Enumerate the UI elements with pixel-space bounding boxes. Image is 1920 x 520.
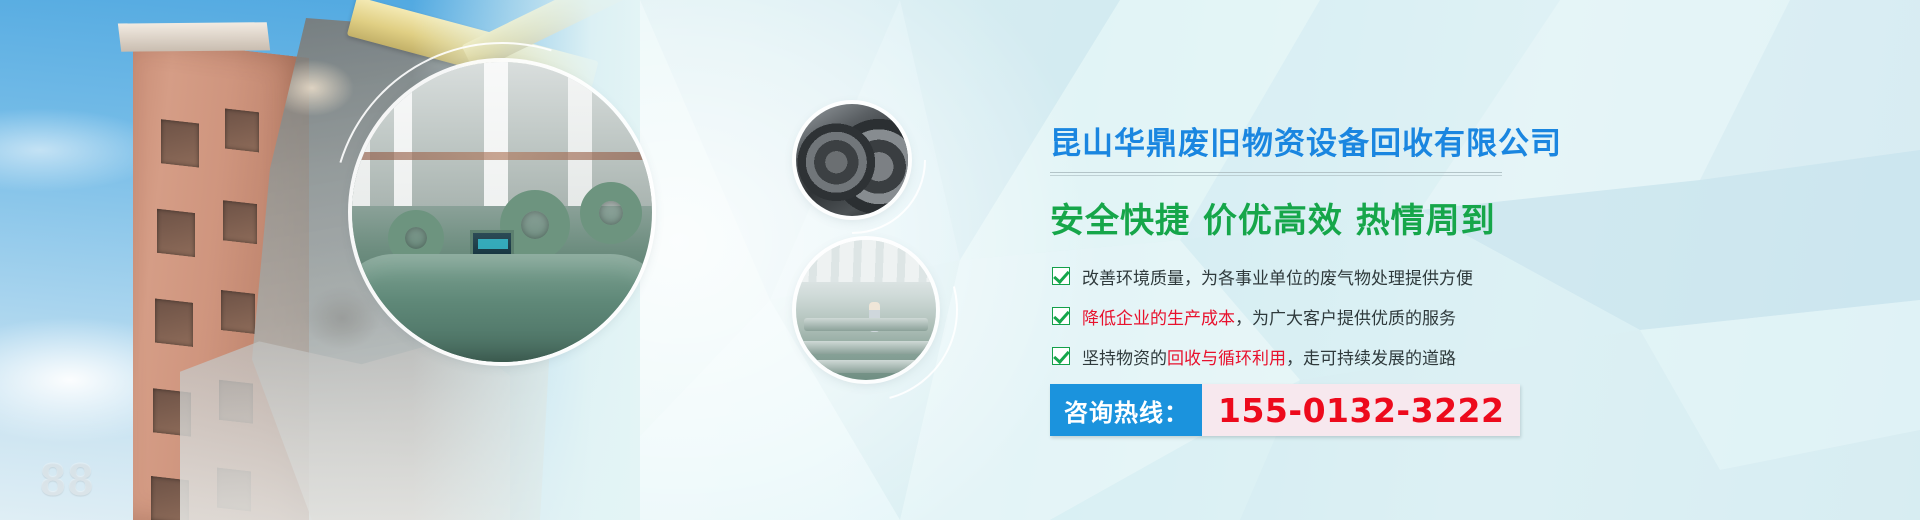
list-item: 降低企业的生产成本 ，为广大客户提供优质的服务 (1052, 296, 1473, 336)
window (223, 200, 257, 244)
steel-coil-rolls-photo (796, 104, 908, 216)
company-name: 昆山华鼎废旧物资设备回收有限公司 (1050, 118, 1562, 163)
hotline-number[interactable]: 155-0132-3222 (1202, 384, 1520, 436)
bullet-head: 坚持物资的 (1082, 344, 1167, 369)
check-icon (1052, 307, 1070, 325)
chiller-tank (352, 254, 652, 362)
work-bench (804, 318, 927, 331)
work-bench (796, 360, 936, 373)
steel-coils (796, 104, 908, 216)
window (157, 209, 195, 257)
hotline-box[interactable]: 咨询热线： 155-0132-3222 (1050, 384, 1520, 436)
hotline-label: 咨询热线： (1050, 384, 1202, 436)
bullet-highlight: 回收与循环利用 (1167, 344, 1286, 369)
check-icon (1052, 347, 1070, 365)
steel-beam (352, 152, 652, 160)
window (225, 108, 259, 152)
industrial-chiller-machinery-photo (352, 62, 652, 362)
bullet-head: 改善环境质量，为各事业单位的废气物处理提供方便 (1082, 264, 1473, 289)
window (221, 290, 255, 334)
promo-banner: 88 昆山华鼎废旧物资设备回收有限公司 安全快捷 价 (0, 0, 1920, 520)
feature-list: 改善环境质量，为各事业单位的废气物处理提供方便 降低企业的生产成本 ，为广大客户… (1052, 256, 1473, 376)
banner-text-panel: 昆山华鼎废旧物资设备回收有限公司 安全快捷 价优高效 热情周到 改善环境质量，为… (1050, 0, 1610, 520)
list-item: 改善环境质量，为各事业单位的废气物处理提供方便 (1052, 256, 1473, 296)
window (155, 299, 193, 347)
chiller-pipe (580, 182, 642, 244)
check-icon (1052, 267, 1070, 285)
bullet-tail: ，走可持续发展的道路 (1286, 344, 1456, 369)
workshop-scene (796, 240, 936, 380)
factory-production-line-photo (796, 240, 936, 380)
work-bench (799, 341, 933, 354)
chiller-scene (352, 62, 652, 362)
list-item: 坚持物资的 回收与循环利用 ，走可持续发展的道路 (1052, 336, 1473, 376)
divider-rule (1050, 172, 1502, 177)
slogan-headline: 安全快捷 价优高效 热情周到 (1050, 193, 1496, 242)
bullet-tail: ，为广大客户提供优质的服务 (1235, 304, 1456, 329)
watermark-text: 88 (40, 452, 95, 506)
window (161, 119, 199, 167)
bullet-highlight: 降低企业的生产成本 (1082, 304, 1235, 329)
workshop-ceiling (796, 240, 936, 282)
roof-slab (118, 22, 270, 51)
